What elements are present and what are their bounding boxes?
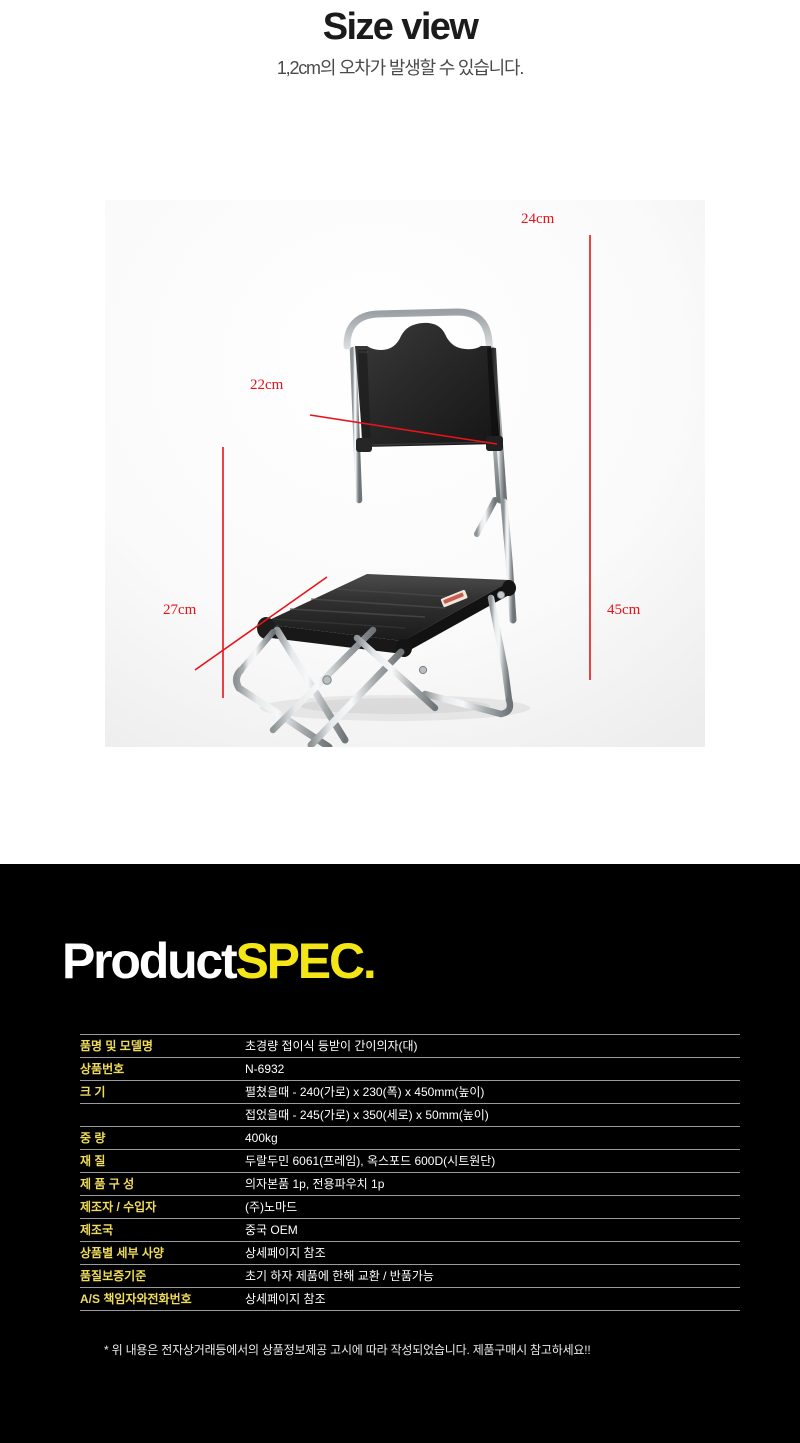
spec-value: 초기 하자 제품에 한해 교환 / 반품가능 [245,1265,740,1288]
spec-label: A/S 책임자와전화번호 [80,1288,245,1311]
folding-chair-photo: 24cm 22cm 27cm 45cm [105,200,705,747]
spec-value: 의자본품 1p, 전용파우치 1p [245,1173,740,1196]
spec-value: 상세페이지 참조 [245,1242,740,1265]
spec-heading: ProductSPEC. [62,932,375,990]
page-subtitle: 1,2cm의 오차가 발생할 수 있습니다. [0,55,800,81]
dimension-label-total-height: 45cm [607,602,640,619]
table-row: A/S 책임자와전화번호 상세페이지 참조 [80,1288,740,1311]
spec-label: 품질보증기준 [80,1265,245,1288]
spec-label: 제 품 구 성 [80,1173,245,1196]
table-row: 품질보증기준 초기 하자 제품에 한해 교환 / 반품가능 [80,1265,740,1288]
spec-label: 상품별 세부 사양 [80,1242,245,1265]
table-row: 재 질 두랄두민 6061(프레임), 옥스포드 600D(시트원단) [80,1150,740,1173]
table-row: 제조국 중국 OEM [80,1219,740,1242]
spec-footnote: * 위 내용은 전자상거래등에서의 상품정보제공 고시에 따라 작성되었습니다.… [104,1341,591,1358]
spec-value: (주)노마드 [245,1196,740,1219]
spec-value: 접었을때 - 245(가로) x 350(세로) x 50mm(높이) [245,1104,740,1127]
table-row: 상품별 세부 사양 상세페이지 참조 [80,1242,740,1265]
dimension-label-width: 24cm [521,211,554,228]
spec-value: 두랄두민 6061(프레임), 옥스포드 600D(시트원단) [245,1150,740,1173]
spec-table-body: 품명 및 모델명 초경량 접이식 등받이 간이의자(대) 상품번호 N-6932… [80,1035,740,1311]
spec-heading-product: Product [62,933,236,989]
table-row: 상품번호 N-6932 [80,1058,740,1081]
spec-value: 상세페이지 참조 [245,1288,740,1311]
spec-label: 중 량 [80,1127,245,1150]
size-view-section: Size view 1,2cm의 오차가 발생할 수 있습니다. [0,0,800,864]
table-row: 접었을때 - 245(가로) x 350(세로) x 50mm(높이) [80,1104,740,1127]
spec-value: 중국 OEM [245,1219,740,1242]
spec-label: 상품번호 [80,1058,245,1081]
spec-label: 제조국 [80,1219,245,1242]
table-row: 제 품 구 성 의자본품 1p, 전용파우치 1p [80,1173,740,1196]
spec-value: N-6932 [245,1058,740,1081]
spec-label: 크 기 [80,1081,245,1104]
spec-label: 제조자 / 수입자 [80,1196,245,1219]
spec-value: 400kg [245,1127,740,1150]
dimension-label-seat-height: 27cm [163,602,196,619]
spec-value: 초경량 접이식 등받이 간이의자(대) [245,1035,740,1058]
product-detail-page: Size view 1,2cm의 오차가 발생할 수 있습니다. [0,0,800,1443]
table-row: 중 량 400kg [80,1127,740,1150]
product-spec-section: ProductSPEC. 품명 및 모델명 초경량 접이식 등받이 간이의자(대… [0,864,800,1443]
spec-label: 품명 및 모델명 [80,1035,245,1058]
spec-label [80,1104,245,1127]
page-title: Size view [0,5,800,49]
dimension-label-depth: 22cm [250,377,283,394]
spec-value: 펼쳤을때 - 240(가로) x 230(폭) x 450mm(높이) [245,1081,740,1104]
chair-illustration [105,200,705,747]
table-row: 제조자 / 수입자 (주)노마드 [80,1196,740,1219]
spec-table: 품명 및 모델명 초경량 접이식 등받이 간이의자(대) 상품번호 N-6932… [80,1034,740,1311]
table-row: 크 기 펼쳤을때 - 240(가로) x 230(폭) x 450mm(높이) [80,1081,740,1104]
spec-label: 재 질 [80,1150,245,1173]
table-row: 품명 및 모델명 초경량 접이식 등받이 간이의자(대) [80,1035,740,1058]
spec-heading-spec: SPEC. [236,933,375,989]
